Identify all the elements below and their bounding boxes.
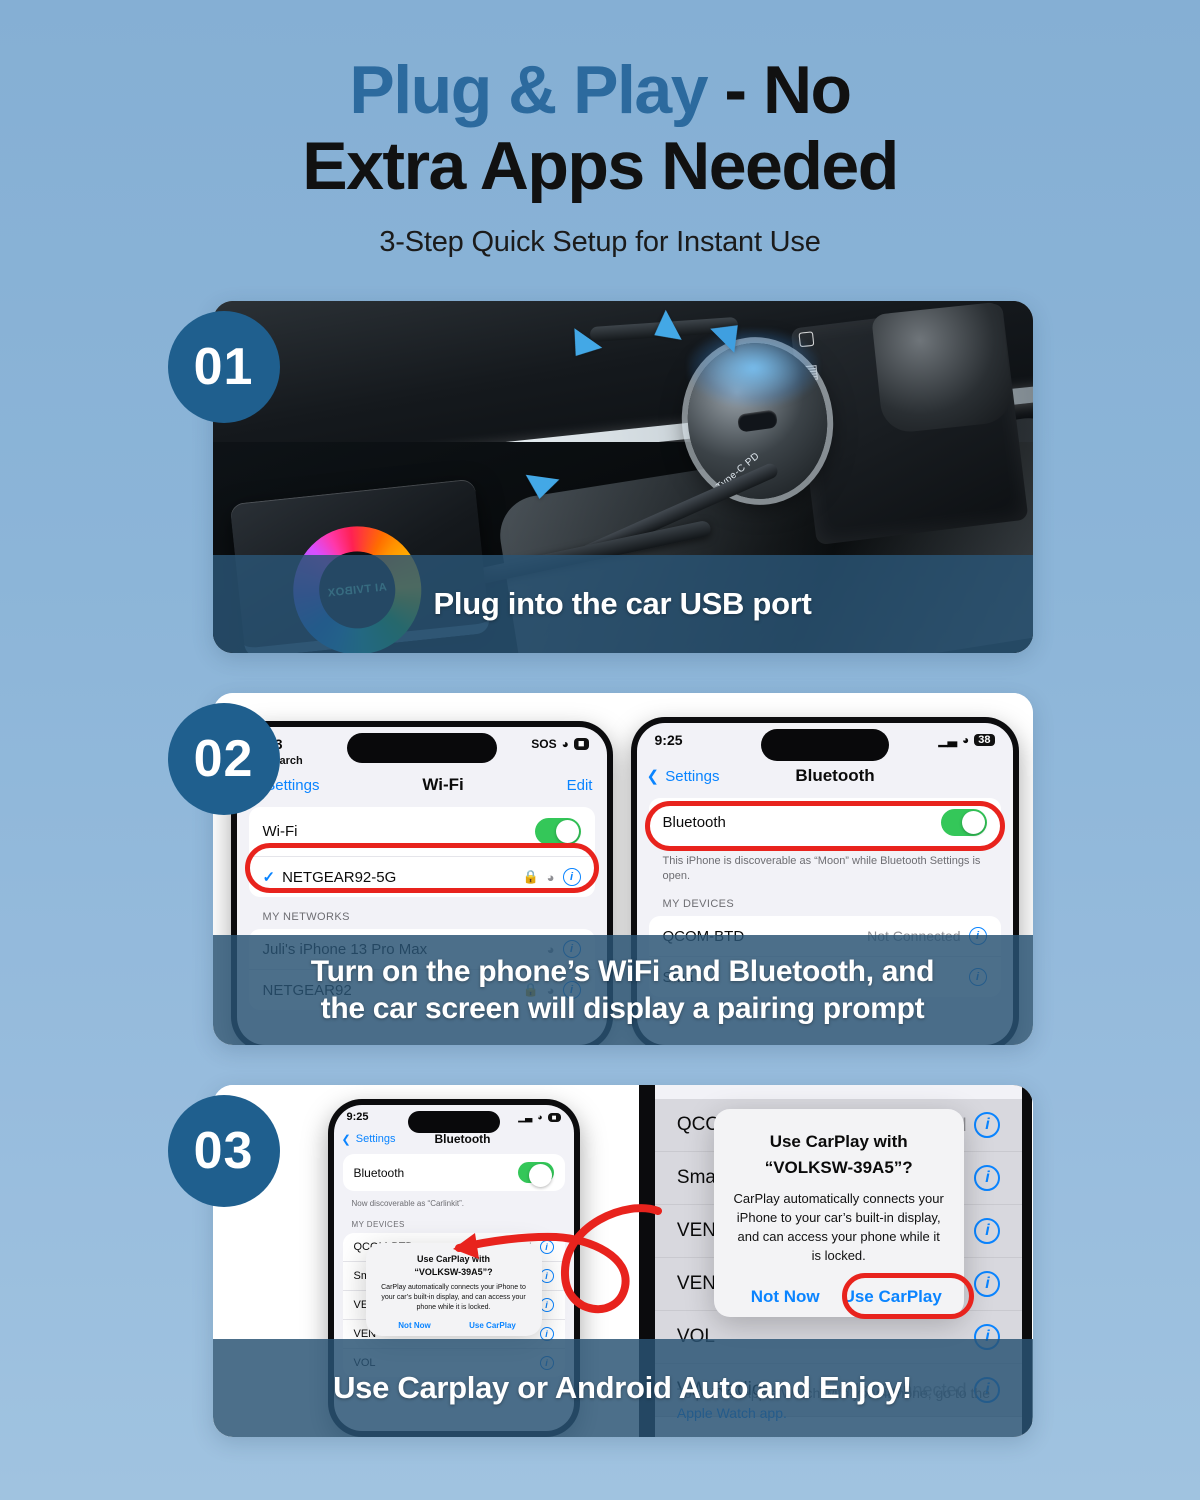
steps-container: ▢▤△ Type-C PD AI TVIBOX [0, 301, 1200, 1437]
info-icon[interactable]: i [540, 1240, 554, 1254]
step-02-caption-bar: Turn on the phone’s WiFi and Bluetooth, … [213, 935, 1033, 1045]
use-carplay-button[interactable]: Use CarPlay [839, 1287, 946, 1307]
bluetooth-toggle-label: Bluetooth [663, 814, 726, 831]
step-card-02: 5:03 SOS ◕ ■ ◀ Search ❮ Settings [168, 693, 1033, 1045]
dialog-actions: Not Now Use CarPlay [376, 1321, 532, 1330]
step-card-01: ▢▤△ Type-C PD AI TVIBOX [168, 301, 1033, 653]
dialog-title: Use CarPlay with “VOLKSW-39A5”? [376, 1253, 532, 1279]
step-03-caption-bar: Use Carplay or Android Auto and Enjoy! [213, 1339, 1033, 1437]
status-time: 9:25 [347, 1111, 369, 1123]
bluetooth-discoverable-note: This iPhone is discoverable as “Moon” wh… [637, 847, 1013, 884]
battery-icon: 38 [974, 734, 994, 746]
bluetooth-discoverable-note: Now discoverable as “Carlinkit”. [334, 1191, 574, 1211]
connection-glow-effect [688, 329, 819, 406]
step-03-caption: Use Carplay or Android Auto and Enjoy! [333, 1369, 912, 1407]
wifi-toggle-switch[interactable] [535, 818, 581, 845]
device-name: Sma [677, 1167, 716, 1189]
direction-arrow-icon [523, 475, 560, 502]
info-icon[interactable]: i [974, 1165, 1000, 1191]
bluetooth-toggle-row[interactable]: Bluetooth [343, 1154, 565, 1191]
wifi-icon: ◕ [962, 733, 969, 747]
dialog-title-line-2: “VOLKSW-39A5”? [414, 1267, 492, 1277]
dialog-title-line-1: Use CarPlay with [770, 1132, 908, 1151]
page-title-line-2: Extra Apps Needed [0, 128, 1200, 204]
dialog-title: Use CarPlay with “VOLKSW-39A5”? [732, 1129, 946, 1181]
back-to-settings-button[interactable]: ❮ Settings [647, 767, 720, 785]
wifi-icon: ◕ [537, 1112, 542, 1122]
nav-title-bluetooth: Bluetooth [435, 1132, 491, 1146]
cellular-icon: ▁▃ [939, 733, 957, 747]
dialog-body: CarPlay automatically connects your iPho… [376, 1283, 532, 1313]
device-row-status: i [974, 1218, 1000, 1244]
edit-button[interactable]: Edit [567, 777, 593, 794]
page-title-line-1: Plug & Play - No [0, 52, 1200, 128]
nav-bar-wifi: ❮ Settings Wi-Fi Edit [237, 767, 607, 807]
bluetooth-toggle-row[interactable]: Bluetooth [649, 798, 1001, 847]
status-indicators: ▁▃ ◕ 38 [939, 733, 995, 747]
sos-label: SOS [531, 737, 556, 751]
info-icon[interactable]: i [974, 1271, 1000, 1297]
wifi-settings-group: Wi-Fi ✓NETGEAR92-5G 🔒 ◕ i [249, 807, 595, 897]
dynamic-island [408, 1111, 500, 1133]
back-label: Settings [356, 1133, 396, 1145]
bluetooth-settings-group: Bluetooth [649, 798, 1001, 847]
battery-icon: ■ [574, 738, 589, 750]
info-icon[interactable]: i [974, 1112, 1000, 1138]
my-devices-header: MY DEVICES [334, 1211, 574, 1233]
lock-icon: 🔒 [522, 869, 538, 885]
page-title-accent: Plug & Play [349, 52, 707, 128]
back-to-settings-button[interactable]: ❮ Settings [342, 1133, 396, 1146]
status-indicators: SOS ◕ ■ [531, 737, 588, 751]
carplay-dialog-large: Use CarPlay with “VOLKSW-39A5”? CarPlay … [714, 1109, 964, 1317]
device-name: VEN [677, 1220, 716, 1242]
step-02-caption-line-2: the car screen will display a pairing pr… [321, 990, 925, 1027]
device-row-status: i [540, 1269, 554, 1283]
not-now-button[interactable]: Not Now [376, 1321, 454, 1330]
dialog-body: CarPlay automatically connects your iPho… [732, 1189, 946, 1265]
page-subtitle: 3-Step Quick Setup for Instant Use [0, 226, 1200, 259]
status-indicators: ▁▃ ◕ ■ [518, 1112, 560, 1123]
nav-title-wifi: Wi-Fi [422, 775, 463, 795]
connected-network: ✓NETGEAR92-5G [263, 868, 397, 886]
step-number-badge-03: 03 [168, 1095, 280, 1207]
status-time: 9:25 [655, 732, 683, 748]
not-now-button[interactable]: Not Now [732, 1287, 839, 1307]
bluetooth-toggle-switch[interactable] [518, 1162, 554, 1183]
nav-title-bluetooth: Bluetooth [795, 766, 874, 786]
phone-notch [347, 733, 497, 763]
info-icon[interactable]: i [563, 868, 581, 886]
info-icon[interactable]: i [540, 1298, 554, 1312]
my-devices-header: MY DEVICES [637, 884, 1013, 916]
wifi-toggle-label: Wi-Fi [263, 823, 298, 840]
device-row-status: i [974, 1271, 1000, 1297]
dialog-actions: Not Now Use CarPlay [732, 1287, 946, 1307]
step-02-card-body: 5:03 SOS ◕ ■ ◀ Search ❮ Settings [213, 693, 1033, 1045]
step-number-badge-01: 01 [168, 311, 280, 423]
info-icon[interactable]: i [974, 1218, 1000, 1244]
step-01-card-body: ▢▤△ Type-C PD AI TVIBOX [213, 301, 1033, 653]
my-networks-header: MY NETWORKS [237, 897, 607, 929]
cellular-icon: ▁▃ [518, 1112, 532, 1123]
checkmark-icon: ✓ [263, 869, 276, 886]
step-02-caption-line-1: Turn on the phone’s WiFi and Bluetooth, … [311, 953, 934, 990]
info-icon[interactable]: i [540, 1269, 554, 1283]
bluetooth-settings-group: Bluetooth [343, 1154, 565, 1191]
use-carplay-button[interactable]: Use CarPlay [454, 1321, 532, 1330]
device-row-status: i [974, 1165, 1000, 1191]
bluetooth-toggle-switch[interactable] [941, 809, 987, 836]
network-row-icons: 🔒 ◕ i [522, 868, 580, 886]
page-header: Plug & Play - No Extra Apps Needed 3-Ste… [0, 0, 1200, 259]
battery-icon: ■ [548, 1113, 561, 1122]
wifi-toggle-row[interactable]: Wi-Fi [249, 807, 595, 857]
bluetooth-toggle-label: Bluetooth [354, 1166, 405, 1180]
step-01-caption: Plug into the car USB port [434, 585, 812, 623]
page-title-rest: - No [707, 52, 851, 128]
carplay-dialog-small: Use CarPlay with “VOLKSW-39A5”? CarPlay … [366, 1243, 542, 1336]
dynamic-island [761, 729, 889, 761]
step-card-03: 9:25 ▁▃ ◕ ■ ❮ Settings Bluetooth [168, 1085, 1033, 1437]
step-03-card-body: 9:25 ▁▃ ◕ ■ ❮ Settings Bluetooth [213, 1085, 1033, 1437]
dialog-title-line-1: Use CarPlay with [417, 1254, 490, 1264]
step-01-caption-bar: Plug into the car USB port [213, 555, 1033, 653]
device-name: VEN [677, 1273, 716, 1295]
network-name: NETGEAR92-5G [282, 869, 396, 886]
wifi-network-row[interactable]: ✓NETGEAR92-5G 🔒 ◕ i [249, 857, 595, 897]
step-number-badge-02: 02 [168, 703, 280, 815]
wifi-signal-icon: ◕ [547, 870, 555, 885]
back-label: Settings [665, 768, 719, 785]
wifi-icon: ◕ [562, 737, 569, 751]
gear-knob-shape [871, 302, 1014, 435]
device-row-status: i [540, 1298, 554, 1312]
dialog-title-line-2: “VOLKSW-39A5”? [765, 1158, 913, 1177]
